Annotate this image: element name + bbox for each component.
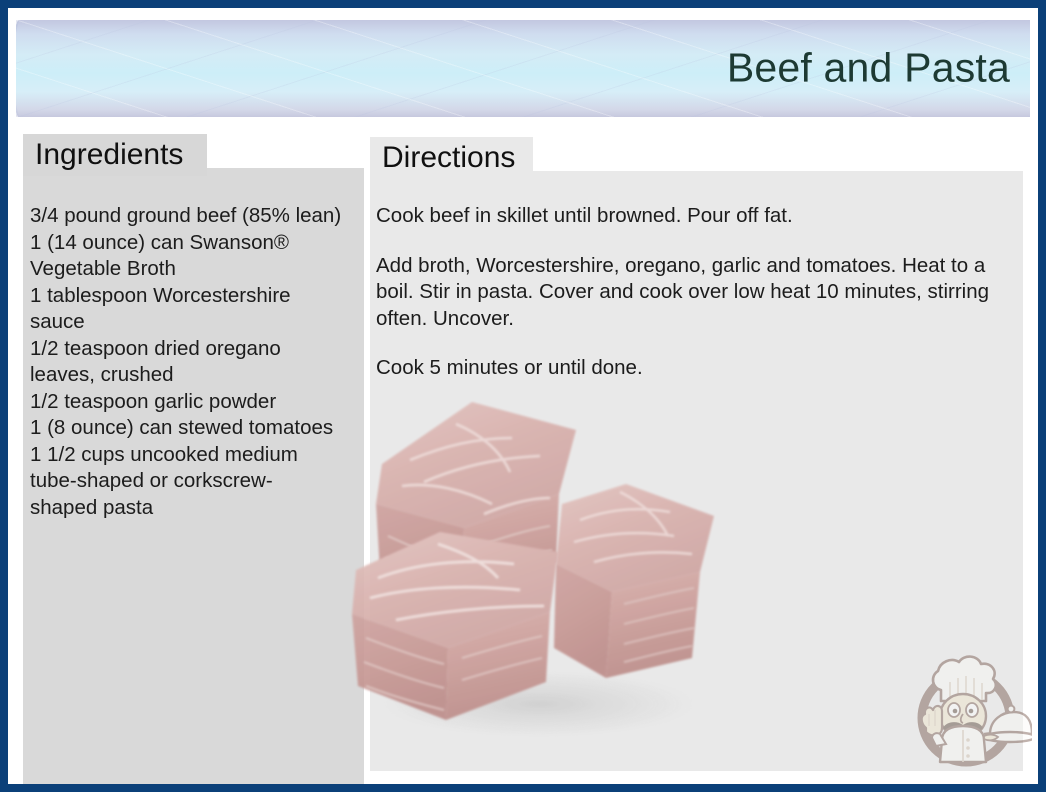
ingredients-list: 3/4 pound ground beef (85% lean) 1 (14 o… bbox=[30, 203, 366, 521]
slide-canvas: Beef and Pasta Ingredients Directions 3/… bbox=[8, 8, 1038, 784]
direction-step: Add broth, Worcestershire, oregano, garl… bbox=[376, 253, 1021, 333]
directions-list: Cook beef in skillet until browned. Pour… bbox=[376, 203, 1021, 382]
tab-ingredients[interactable]: Ingredients bbox=[23, 134, 207, 176]
recipe-slide: Beef and Pasta Ingredients Directions 3/… bbox=[0, 0, 1046, 792]
direction-step: Cook 5 minutes or until done. bbox=[376, 355, 1021, 382]
page-title: Beef and Pasta bbox=[727, 44, 1010, 91]
chef-mascot-logo-icon bbox=[906, 646, 1032, 774]
directions-heading: Directions bbox=[370, 143, 515, 173]
direction-step: Cook beef in skillet until browned. Pour… bbox=[376, 203, 1021, 230]
beef-cubes-image bbox=[344, 386, 744, 756]
title-banner: Beef and Pasta bbox=[16, 20, 1030, 117]
tab-directions[interactable]: Directions bbox=[370, 137, 533, 179]
ingredients-heading: Ingredients bbox=[23, 140, 183, 170]
